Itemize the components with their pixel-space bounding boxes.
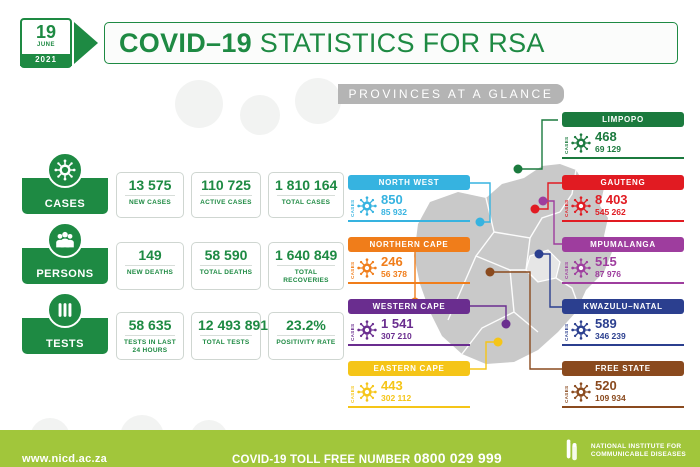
nicd-logo-line1: NATIONAL INSTITUTE FOR <box>591 443 686 451</box>
province-card-header: NORTH WEST <box>348 175 470 190</box>
virus-icon <box>357 320 377 340</box>
virus-icon <box>357 258 377 278</box>
province-numbers: 850 85 932 <box>381 193 407 218</box>
stat-value: 1 640 849 <box>275 247 337 263</box>
infographic-page: 19 JUNE 2021 COVID–19 STATISTICS FOR RSA… <box>0 0 700 467</box>
province-card-header: FREE STATE <box>562 361 684 376</box>
virus-icon <box>571 133 591 153</box>
statistics-section: CASES <box>0 160 340 370</box>
stat-card: 58 590 TOTAL DEATHS <box>191 242 261 290</box>
stat-label: TOTAL TESTS <box>198 339 254 347</box>
stat-label: TOTAL DEATHS <box>198 269 254 277</box>
virus-icon <box>357 196 377 216</box>
divider <box>277 265 335 266</box>
province-name: NORTH WEST <box>379 178 440 187</box>
stat-value: 1 810 164 <box>275 177 337 193</box>
nicd-logo-line2: COMMUNICABLE DISEASES <box>591 451 686 459</box>
province-total-cases: 56 378 <box>381 269 407 280</box>
province-new-cases: 515 <box>595 255 621 269</box>
stat-value: 58 590 <box>198 247 254 263</box>
stat-row-tests: TESTS 58 635 TESTS IN LAST 24 HOURS 12 4… <box>0 300 340 370</box>
province-name: LIMPOPO <box>602 115 644 124</box>
divider <box>348 344 470 346</box>
test-tubes-icon <box>47 292 83 328</box>
province-card-limpopo[interactable]: LIMPOPO CASES 468 69 129 <box>562 112 684 159</box>
province-new-cases: 589 <box>595 317 626 331</box>
stat-card: 58 635 TESTS IN LAST 24 HOURS <box>116 312 184 360</box>
stat-card: 110 725 ACTIVE CASES <box>191 172 261 218</box>
province-card-body: CASES 443 302 112 <box>348 376 470 406</box>
stat-label: TESTS IN LAST 24 HOURS <box>123 339 177 355</box>
province-name: GAUTENG <box>601 178 646 187</box>
divider <box>200 265 252 266</box>
stat-label: TOTAL RECOVERIES <box>275 269 337 285</box>
province-numbers: 443 302 112 <box>381 379 411 404</box>
province-card-gauteng[interactable]: GAUTENG CASES 8 403 545 262 <box>562 175 684 222</box>
province-card-body: CASES 515 87 976 <box>562 252 684 282</box>
divider <box>562 406 684 408</box>
province-card-body: CASES 246 56 378 <box>348 252 470 282</box>
virus-icon <box>47 152 83 188</box>
date-day: 19 <box>36 23 56 41</box>
divider <box>125 195 175 196</box>
province-cases-label: CASES <box>350 195 355 217</box>
page-title: COVID–19 STATISTICS FOR RSA <box>104 22 678 64</box>
province-cases-label: CASES <box>350 381 355 403</box>
province-cases-label: CASES <box>350 257 355 279</box>
stat-card: 1 810 164 TOTAL CASES <box>268 172 344 218</box>
province-card-header: MPUMALANGA <box>562 237 684 252</box>
stat-card: 1 640 849 TOTAL RECOVERIES <box>268 242 344 290</box>
divider <box>562 157 684 159</box>
stat-label: NEW DEATHS <box>123 269 177 277</box>
people-icon <box>47 222 83 258</box>
virus-icon <box>571 258 591 278</box>
province-name: KWAZULU–NATAL <box>583 302 662 311</box>
stat-tag-label: TESTS <box>46 338 84 350</box>
province-card-body: CASES 8 403 545 262 <box>562 190 684 220</box>
stat-value: 23.2% <box>275 317 337 333</box>
province-numbers: 589 346 239 <box>595 317 626 342</box>
stat-tag-label: PERSONS <box>36 268 93 280</box>
province-numbers: 520 109 934 <box>595 379 626 404</box>
background-watermark <box>175 80 223 128</box>
stat-card: 12 493 891 TOTAL TESTS <box>191 312 261 360</box>
province-numbers: 515 87 976 <box>595 255 621 280</box>
province-name: NORTHERN CAPE <box>370 240 449 249</box>
province-total-cases: 69 129 <box>595 144 621 155</box>
province-cases-label: CASES <box>564 381 569 403</box>
stat-label: NEW CASES <box>123 199 177 207</box>
date-month: JUNE <box>37 42 55 48</box>
divider <box>200 335 252 336</box>
stat-value: 149 <box>123 247 177 263</box>
stat-tag-label: CASES <box>45 198 85 210</box>
province-new-cases: 850 <box>381 193 407 207</box>
divider <box>562 344 684 346</box>
divider <box>348 282 470 284</box>
province-card-eastern-cape[interactable]: EASTERN CAPE CASES 443 302 112 <box>348 361 470 408</box>
divider <box>277 335 335 336</box>
province-card-header: GAUTENG <box>562 175 684 190</box>
province-cases-label: CASES <box>350 319 355 341</box>
virus-icon <box>357 382 377 402</box>
divider <box>277 195 335 196</box>
province-card-western-cape[interactable]: WESTERN CAPE CASES 1 541 307 210 <box>348 299 470 346</box>
province-total-cases: 545 262 <box>595 207 628 218</box>
stat-cards-persons: 149 NEW DEATHS 58 590 TOTAL DEATHS 1 640… <box>116 242 344 290</box>
province-total-cases: 302 112 <box>381 393 411 404</box>
stat-cards-cases: 13 575 NEW CASES 110 725 ACTIVE CASES 1 … <box>116 172 344 218</box>
divider <box>348 220 470 222</box>
divider <box>562 282 684 284</box>
province-new-cases: 246 <box>381 255 407 269</box>
province-new-cases: 1 541 <box>381 317 414 331</box>
province-card-body: CASES 520 109 934 <box>562 376 684 406</box>
stat-row-persons: PERSONS 149 NEW DEATHS <box>0 230 340 300</box>
divider <box>200 195 252 196</box>
province-new-cases: 468 <box>595 130 621 144</box>
province-total-cases: 307 210 <box>381 331 414 342</box>
province-numbers: 246 56 378 <box>381 255 407 280</box>
virus-icon <box>571 320 591 340</box>
province-card-header: WESTERN CAPE <box>348 299 470 314</box>
divider <box>125 265 175 266</box>
province-name: EASTERN CAPE <box>373 364 444 373</box>
province-card-header: NORTHERN CAPE <box>348 237 470 252</box>
province-card-body: CASES 589 346 239 <box>562 314 684 344</box>
stat-cards-tests: 58 635 TESTS IN LAST 24 HOURS 12 493 891… <box>116 312 344 360</box>
stat-label: POSITIVITY RATE <box>275 339 337 347</box>
virus-icon <box>571 382 591 402</box>
province-new-cases: 520 <box>595 379 626 393</box>
province-name: FREE STATE <box>595 364 651 373</box>
stat-label: ACTIVE CASES <box>198 199 254 207</box>
province-card-free-state[interactable]: FREE STATE CASES 520 109 934 <box>562 361 684 408</box>
divider <box>562 220 684 222</box>
footer-hotline: COVID-19 TOLL FREE NUMBER 0800 029 999 <box>232 450 502 466</box>
province-card-north-west[interactable]: NORTH WEST CASES 850 85 932 <box>348 175 470 222</box>
footer-hotline-number: 0800 029 999 <box>414 450 502 466</box>
province-numbers: 8 403 545 262 <box>595 193 628 218</box>
province-name: WESTERN CAPE <box>373 302 446 311</box>
header: 19 JUNE 2021 COVID–19 STATISTICS FOR RSA <box>0 0 700 80</box>
province-new-cases: 8 403 <box>595 193 628 207</box>
stat-card: 23.2% POSITIVITY RATE <box>268 312 344 360</box>
province-name: MPUMALANGA <box>590 240 656 249</box>
province-card-body: CASES 468 69 129 <box>562 127 684 157</box>
province-numbers: 1 541 307 210 <box>381 317 414 342</box>
province-cases-label: CASES <box>564 132 569 154</box>
province-card-header: LIMPOPO <box>562 112 684 127</box>
nicd-logo: NATIONAL INSTITUTE FOR COMMUNICABLE DISE… <box>564 439 686 463</box>
background-watermark <box>240 95 280 135</box>
province-total-cases: 85 932 <box>381 207 407 218</box>
stat-row-cases: CASES <box>0 160 340 230</box>
footer: www.nicd.ac.za COVID-19 TOLL FREE NUMBER… <box>0 430 700 467</box>
province-cases-label: CASES <box>564 257 569 279</box>
footer-website[interactable]: www.nicd.ac.za <box>22 453 107 465</box>
stat-value: 13 575 <box>123 177 177 193</box>
page-title-bold: COVID–19 <box>119 28 252 58</box>
footer-hotline-label: COVID-19 TOLL FREE NUMBER <box>232 454 414 466</box>
nicd-logo-icon <box>564 439 586 463</box>
province-cases-label: CASES <box>564 319 569 341</box>
nicd-logo-text: NATIONAL INSTITUTE FOR COMMUNICABLE DISE… <box>591 443 686 459</box>
province-card-header: EASTERN CAPE <box>348 361 470 376</box>
divider <box>348 406 470 408</box>
date-year: 2021 <box>20 54 72 66</box>
province-cases-label: CASES <box>564 195 569 217</box>
page-title-light: STATISTICS FOR RSA <box>252 28 545 58</box>
stat-label: TOTAL CASES <box>275 199 337 207</box>
province-card-kwazulu-natal[interactable]: KWAZULU–NATAL CASES 589 346 239 <box>562 299 684 346</box>
arrow-right-icon <box>74 22 98 64</box>
virus-icon <box>571 196 591 216</box>
province-total-cases: 346 239 <box>595 331 626 342</box>
province-card-body: CASES 1 541 307 210 <box>348 314 470 344</box>
province-numbers: 468 69 129 <box>595 130 621 155</box>
province-card-body: CASES 850 85 932 <box>348 190 470 220</box>
province-new-cases: 443 <box>381 379 411 393</box>
province-card-header: KWAZULU–NATAL <box>562 299 684 314</box>
province-card-mpumalanga[interactable]: MPUMALANGA CASES 515 87 976 <box>562 237 684 284</box>
stat-card: 149 NEW DEATHS <box>116 242 184 290</box>
stat-card: 13 575 NEW CASES <box>116 172 184 218</box>
province-total-cases: 87 976 <box>595 269 621 280</box>
province-card-northern-cape[interactable]: NORTHERN CAPE CASES 246 56 378 <box>348 237 470 284</box>
stat-value: 58 635 <box>123 317 177 333</box>
provinces-panel: PROVINCES AT A GLANCE <box>330 84 700 424</box>
province-total-cases: 109 934 <box>595 393 626 404</box>
stat-value: 12 493 891 <box>198 317 254 333</box>
divider <box>125 335 175 336</box>
stat-value: 110 725 <box>198 177 254 193</box>
date-badge: 19 JUNE 2021 <box>20 18 72 68</box>
